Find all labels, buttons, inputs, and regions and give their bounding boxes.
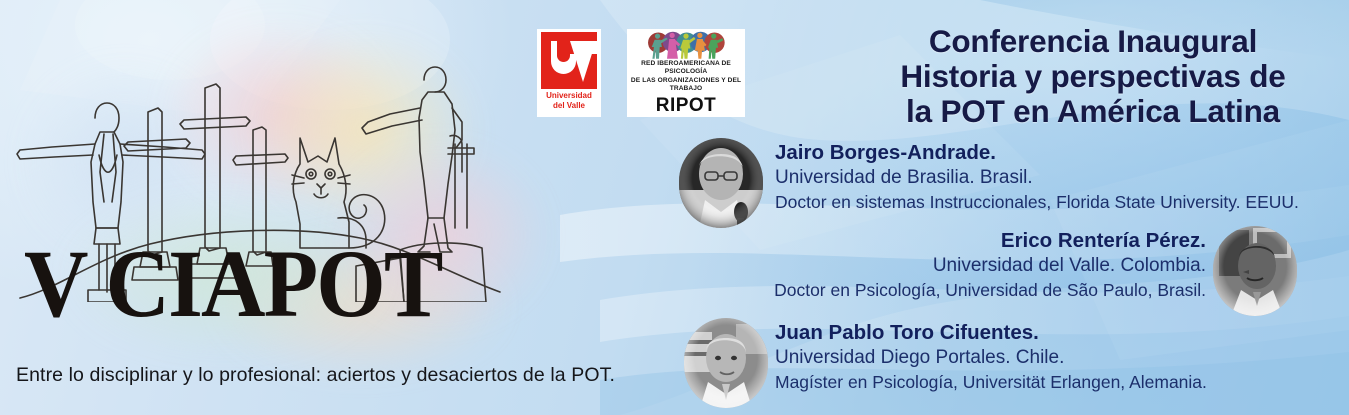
univalle-line-1: Universidad	[537, 91, 601, 101]
speaker-degree: Doctor en sistemas Instruccionales, Flor…	[775, 190, 1299, 215]
speaker-photo-erico-renteria-perez	[1213, 226, 1297, 316]
ripot-line-1: RED IBEROAMERICANA DE PSICOLOGÍA	[629, 60, 743, 76]
speaker-organization: Universidad Diego Portales. Chile.	[775, 345, 1207, 370]
title-line-1: Conferencia Inaugural	[845, 24, 1341, 59]
speaker-organization: Universidad del Valle. Colombia.	[760, 253, 1206, 278]
univalle-v-shape	[570, 41, 596, 82]
univalle-line-2: del Valle	[537, 101, 601, 111]
speaker-name: Erico Rentería Pérez.	[760, 228, 1206, 253]
speaker-text-3: Juan Pablo Toro Cifuentes. Universidad D…	[775, 320, 1207, 395]
ripot-people-icon	[630, 31, 742, 60]
ripot-acronym: RIPOT	[656, 95, 717, 117]
speaker-degree: Magíster en Psicología, Universität Erla…	[775, 370, 1207, 395]
univalle-wordmark: Universidad del Valle	[537, 91, 601, 111]
page-title: Conferencia Inaugural Historia y perspec…	[845, 24, 1341, 129]
speaker-text-2: Erico Rentería Pérez. Universidad del Va…	[760, 228, 1206, 303]
speaker-organization: Universidad de Brasilia. Brasil.	[775, 165, 1299, 190]
speaker-photo-juan-pablo-toro-cifuentes	[684, 318, 768, 408]
title-line-3: la POT en América Latina	[845, 94, 1341, 129]
title-line-2: Historia y perspectivas de	[845, 59, 1341, 94]
event-wordmark: V CIAPOT	[24, 236, 442, 332]
ripot-logo: RED IBEROAMERICANA DE PSICOLOGÍA DE LAS …	[627, 29, 745, 117]
speaker-degree: Doctor en Psicología, Universidad de São…	[760, 278, 1206, 303]
speaker-name: Juan Pablo Toro Cifuentes.	[775, 320, 1207, 345]
ripot-line-2: DE LAS ORGANIZACIONES Y DEL TRABAJO	[629, 77, 743, 93]
univalle-monogram	[541, 32, 597, 89]
event-tagline: Entre lo disciplinar y lo profesional: a…	[16, 364, 615, 387]
universidad-del-valle-logo: Universidad del Valle	[537, 29, 601, 117]
speaker-photo-jairo-borges-andrade	[679, 138, 763, 228]
speaker-text-1: Jairo Borges-Andrade. Universidad de Bra…	[775, 140, 1299, 215]
conference-banner: V CIAPOT Entre lo disciplinar y lo profe…	[0, 0, 1349, 415]
speaker-name: Jairo Borges-Andrade.	[775, 140, 1299, 165]
